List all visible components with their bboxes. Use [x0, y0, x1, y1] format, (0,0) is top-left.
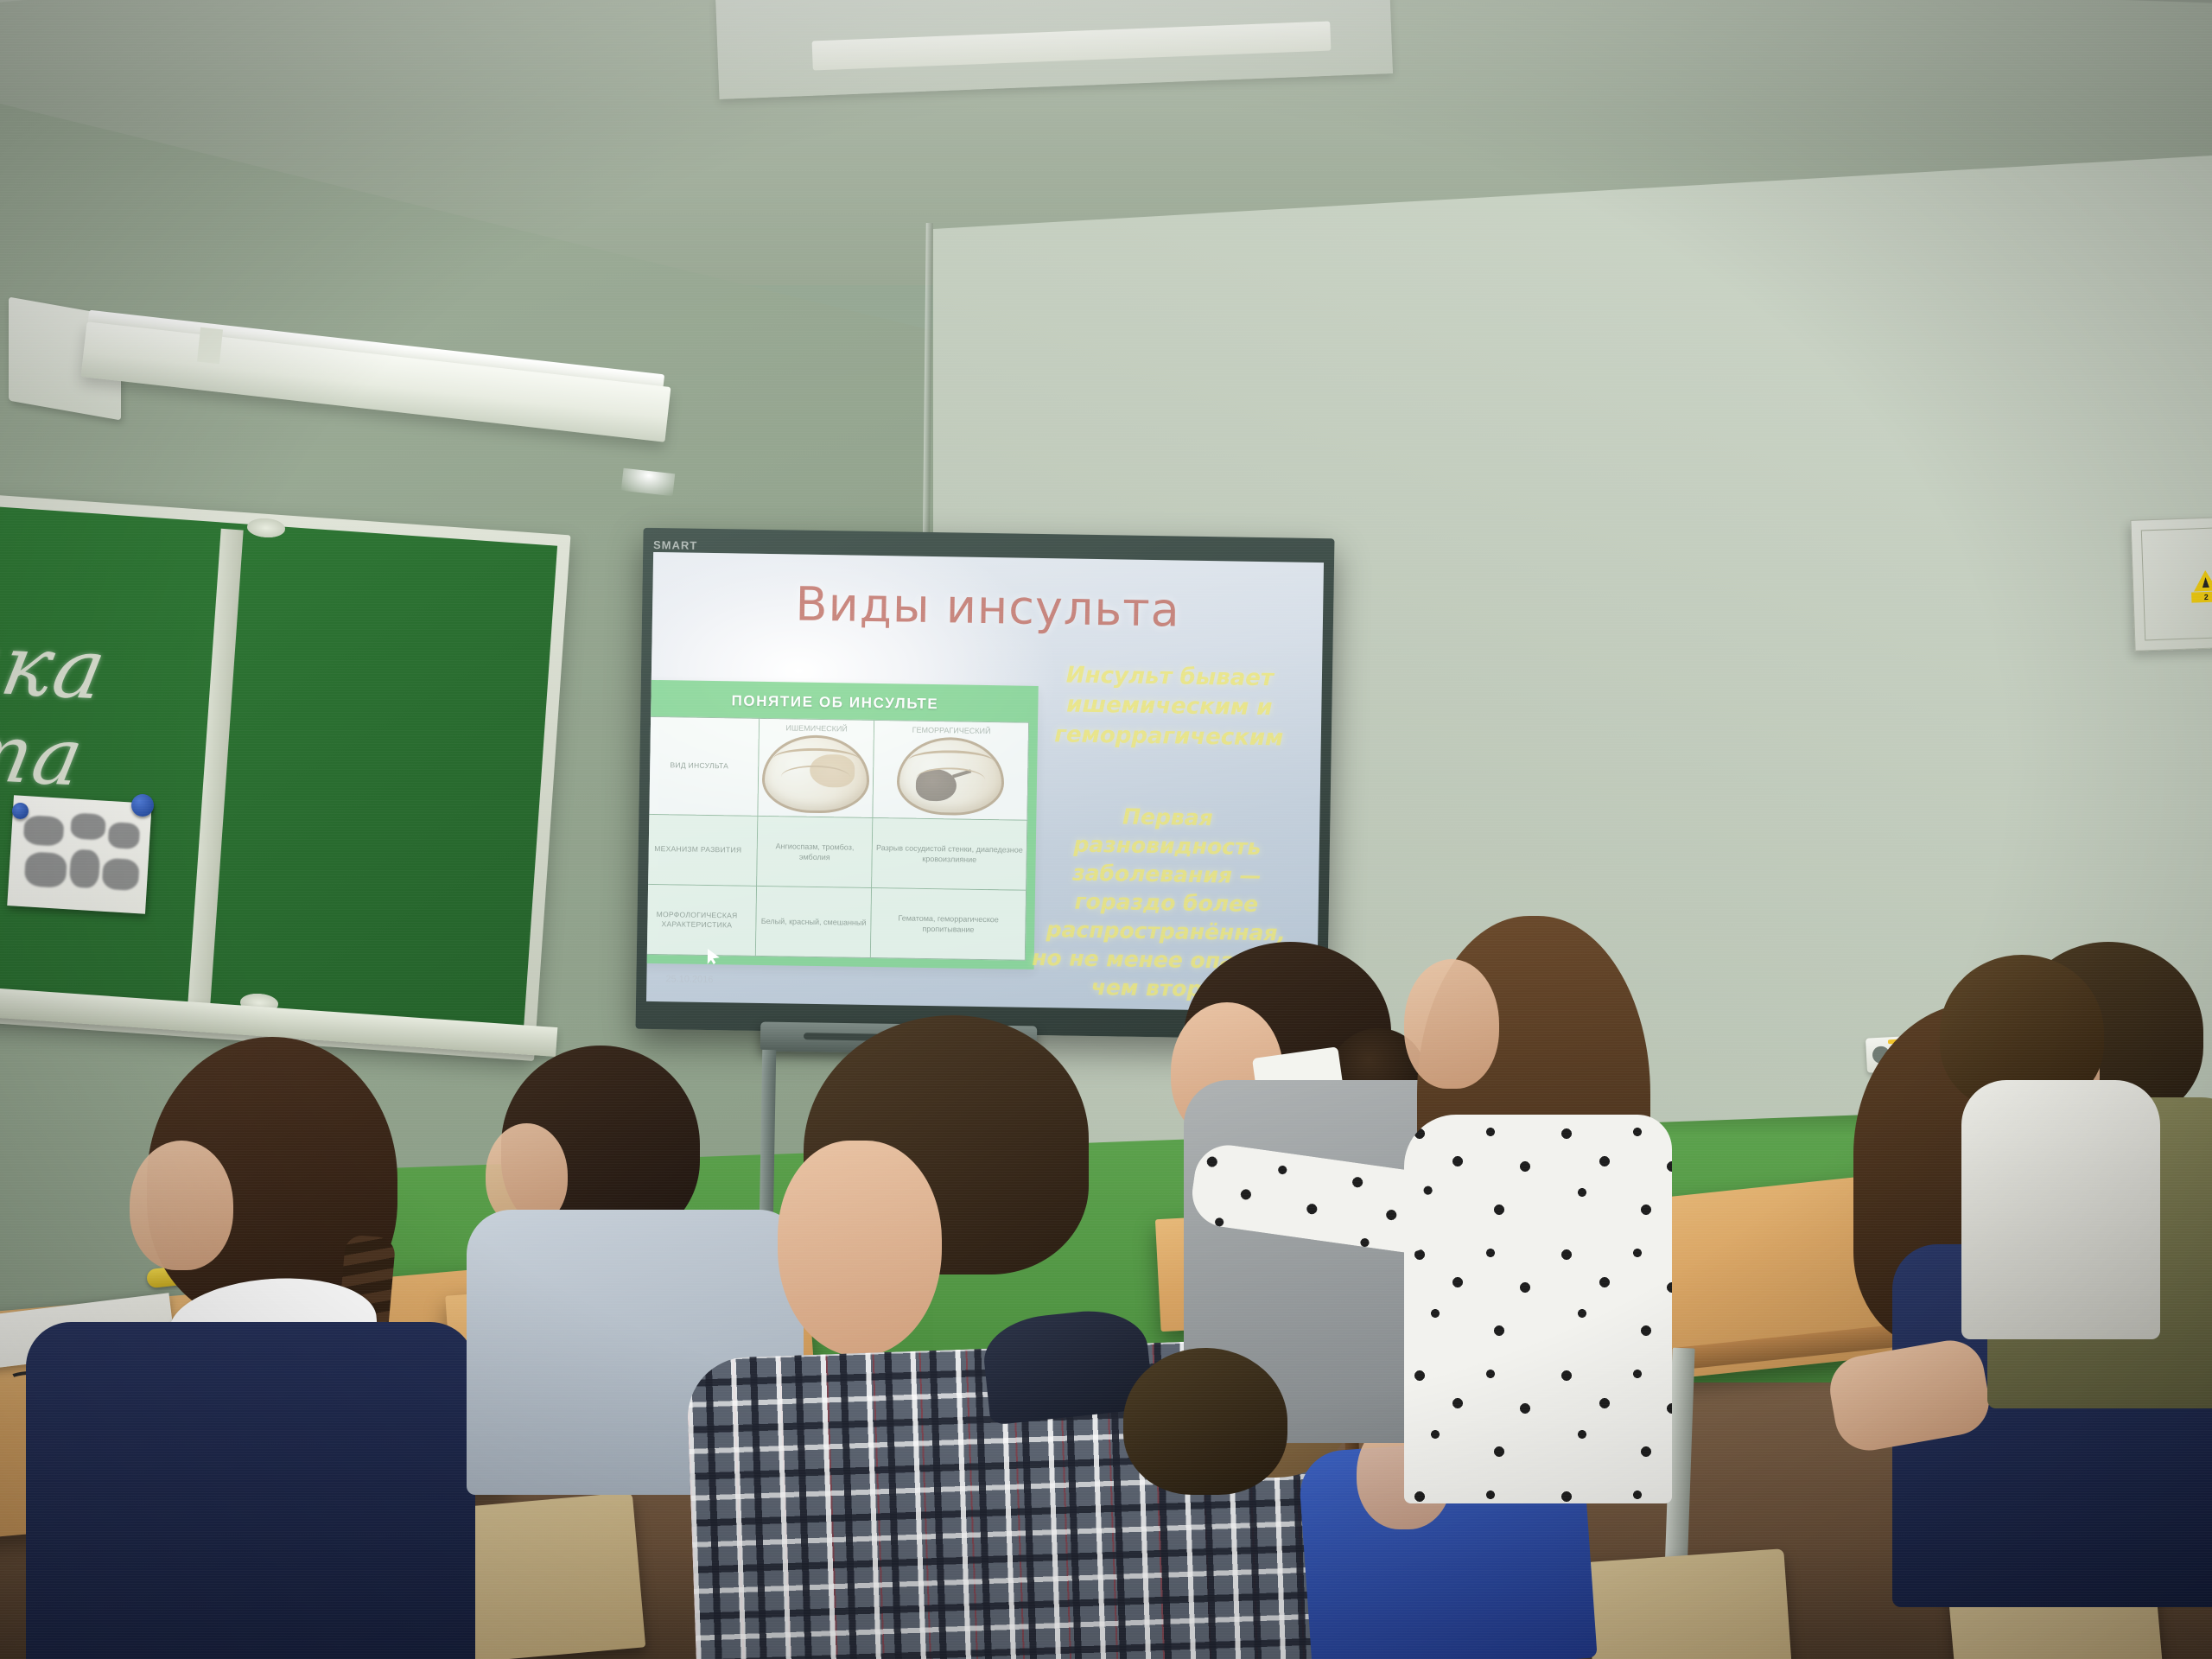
slide-title: Виды инсульта	[652, 575, 1324, 639]
row-header-vid: ВИД ИНСУЛЬТА	[646, 716, 760, 816]
brain-hemorrhagic-image	[897, 737, 1005, 817]
magnet-left-icon[interactable]	[12, 803, 29, 819]
brain-ischemic-image	[762, 734, 870, 814]
cell-morphology-ischemic: Белый, красный, смешанный	[755, 887, 871, 958]
magnet-right-icon[interactable]	[131, 794, 154, 817]
torso-girl-stars	[1404, 1115, 1672, 1503]
chalk-handwriting-line-1: ика	[0, 614, 115, 719]
slide-date: 25.10.2016	[665, 974, 713, 985]
electrical-hazard-icon: 2	[2190, 569, 2212, 610]
board-ornament-top	[246, 517, 285, 538]
col-header-ischemic: ИШЕМИЧЕСКИЙ	[762, 722, 871, 734]
table-row: ВИД ИНСУЛЬТА ИШЕМИЧЕСКИЙ ГЕМОРРАГИЧЕСКИЙ	[646, 716, 1029, 820]
table-row: МЕХАНИЗМ РАЗВИТИЯ Ангиоспазм, тромбоз, э…	[646, 814, 1027, 890]
concept-table: ВИД ИНСУЛЬТА ИШЕМИЧЕСКИЙ ГЕМОРРАГИЧЕСКИЙ	[646, 716, 1029, 961]
head-girl-stars	[1404, 959, 1499, 1089]
classroom-scene: ика та SMART Виды инсульта ПОНЯТИЕ ОБ ИН…	[0, 0, 2212, 1659]
col-header-hemorrhagic: ГЕМОРРАГИЧЕСКИЙ	[877, 724, 1026, 737]
hair-extra-centre	[1123, 1348, 1287, 1495]
cell-mechanism-hemorrhagic: Разрыв сосудистой стенки, диапедезное кр…	[872, 818, 1027, 891]
torso-girl-braid	[26, 1322, 475, 1659]
head-boy-plaid	[778, 1141, 942, 1357]
table-row: МОРФОЛОГИЧЕСКАЯ ХАРАКТЕРИСТИКА Белый, кр…	[646, 884, 1027, 960]
chalkboard-surface[interactable]	[0, 506, 557, 1038]
lamp-mount	[197, 327, 223, 364]
projection-screen[interactable]: Виды инсульта ПОНЯТИЕ ОБ ИНСУЛЬТЕ ВИД ИН…	[646, 552, 1324, 1012]
chair-right-front[interactable]	[1586, 1548, 1794, 1659]
concept-table-panel: ПОНЯТИЕ ОБ ИНСУЛЬТЕ ВИД ИНСУЛЬТА ИШЕМИЧЕ…	[646, 680, 1039, 969]
hazard-label: 2	[2191, 591, 2212, 602]
cell-morphology-hemorrhagic: Гематома, геморрагическое пропитывание	[871, 888, 1027, 961]
head-girl-braid	[130, 1141, 233, 1270]
row-header-mechanism: МЕХАНИЗМ РАЗВИТИЯ	[646, 814, 758, 886]
col-header-ischemic-cell: ИШЕМИЧЕСКИЙ	[758, 718, 874, 817]
torso-extra-right	[1961, 1080, 2160, 1339]
presentation-slide: Виды инсульта ПОНЯТИЕ ОБ ИНСУЛЬТЕ ВИД ИН…	[646, 552, 1324, 1012]
board-poster-sheet[interactable]	[7, 795, 152, 914]
slide-paragraph-1: Инсульт бывает ишемическим и геморрагиче…	[1031, 660, 1309, 753]
row-header-morphology: МОРФОЛОГИЧЕСКАЯ ХАРАКТЕРИСТИКА	[646, 884, 757, 956]
cell-mechanism-ischemic: Ангиоспазм, тромбоз, эмболия	[757, 817, 873, 888]
col-header-hemorrhagic-cell: ГЕМОРРАГИЧЕСКИЙ	[873, 720, 1028, 820]
